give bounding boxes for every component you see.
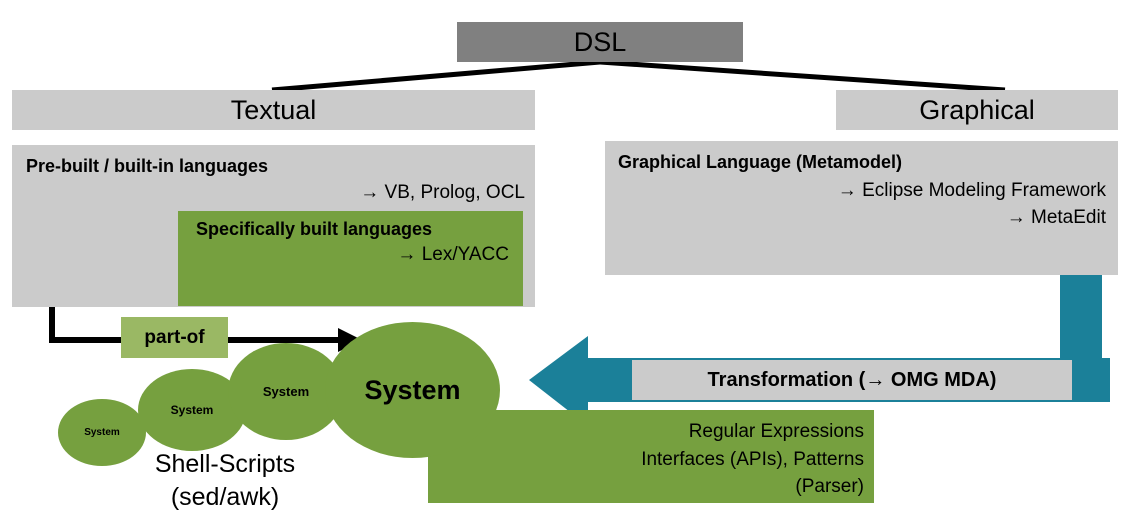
node-transformation-label: Transformation (→ OMG MDA) (708, 369, 997, 392)
node-system-2-label: System (171, 403, 214, 417)
node-system-1-label: System (84, 427, 120, 438)
node-graphical-header[interactable]: Graphical (836, 90, 1118, 130)
edge-dsl-to-graphical (600, 62, 1005, 90)
edge-dsl-to-textual (272, 62, 600, 90)
node-textual-header-label: Textual (231, 97, 317, 124)
node-dsl[interactable]: DSL (457, 22, 743, 62)
node-system-4-label: System (364, 375, 460, 406)
node-system-3-label: System (263, 384, 309, 399)
graphical-language-examples: → Eclipse Modeling Framework → MetaEdit (605, 178, 1106, 232)
specific-languages-title: Specifically built languages (196, 219, 432, 240)
label-part-of[interactable]: part-of (121, 317, 228, 358)
graphical-language-title: Graphical Language (Metamodel) (618, 152, 902, 173)
node-graphical-header-label: Graphical (919, 97, 1035, 124)
diagram-canvas: DSL Textual Graphical Pre-built / built-… (0, 0, 1134, 513)
node-textual-header[interactable]: Textual (12, 90, 535, 130)
node-transformation[interactable]: Transformation (→ OMG MDA) (632, 360, 1072, 400)
system-caption: Shell-Scripts (sed/awk) (100, 448, 350, 513)
system-artifacts-text: Regular Expressions Interfaces (APIs), P… (440, 418, 864, 501)
node-dsl-label: DSL (574, 29, 627, 56)
textual-prebuilt-title: Pre-built / built-in languages (26, 156, 268, 177)
label-part-of-text: part-of (144, 327, 204, 349)
textual-prebuilt-examples: → VB, Prolog, OCL (12, 182, 525, 204)
specific-languages-examples: → Lex/YACC (178, 244, 509, 266)
